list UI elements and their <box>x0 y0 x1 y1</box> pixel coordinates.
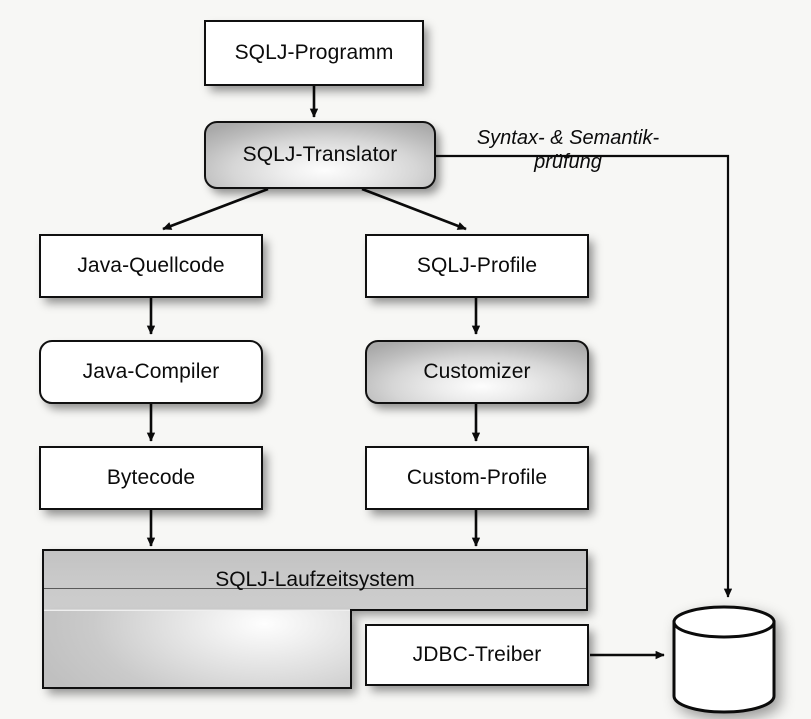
node-jdbc-treiber[interactable]: JDBC-Treiber <box>365 624 589 686</box>
node-database-cylinder[interactable] <box>668 602 792 718</box>
node-label: Java-Compiler <box>83 360 220 383</box>
edge-translator-to-profile <box>362 189 466 229</box>
node-label: SQLJ-Translator <box>243 143 398 166</box>
node-sqlj-profile[interactable]: SQLJ-Profile <box>365 234 589 298</box>
node-label: Bytecode <box>107 466 195 489</box>
node-label: SQLJ-Programm <box>235 41 394 64</box>
node-label: Custom-Profile <box>407 466 547 489</box>
node-bytecode[interactable]: Bytecode <box>39 446 263 510</box>
node-java-compiler[interactable]: Java-Compiler <box>39 340 263 404</box>
node-label: Java-Quellcode <box>77 254 224 277</box>
runtime-label: SQLJ-Laufzeitsystem <box>42 568 588 592</box>
node-label: SQLJ-Profile <box>417 254 537 277</box>
runtime-joint-mask <box>44 609 350 611</box>
node-label: Customizer <box>423 360 530 383</box>
cylinder-top-ellipse <box>674 607 774 637</box>
node-sqlj-programm[interactable]: SQLJ-Programm <box>204 20 424 86</box>
runtime-lower-block <box>42 610 352 689</box>
edge-translator-to-quellcode <box>163 189 268 229</box>
diagram-canvas: SQLJ-Programm SQLJ-Translator Syntax- & … <box>0 0 811 719</box>
node-java-quellcode[interactable]: Java-Quellcode <box>39 234 263 298</box>
node-customizer[interactable]: Customizer <box>365 340 589 404</box>
node-sqlj-translator[interactable]: SQLJ-Translator <box>204 121 436 189</box>
node-custom-profile[interactable]: Custom-Profile <box>365 446 589 510</box>
annotation-syntax-semantik-pruefung: Syntax- & Semantik- prüfung <box>452 126 684 175</box>
node-label: JDBC-Treiber <box>413 643 542 666</box>
